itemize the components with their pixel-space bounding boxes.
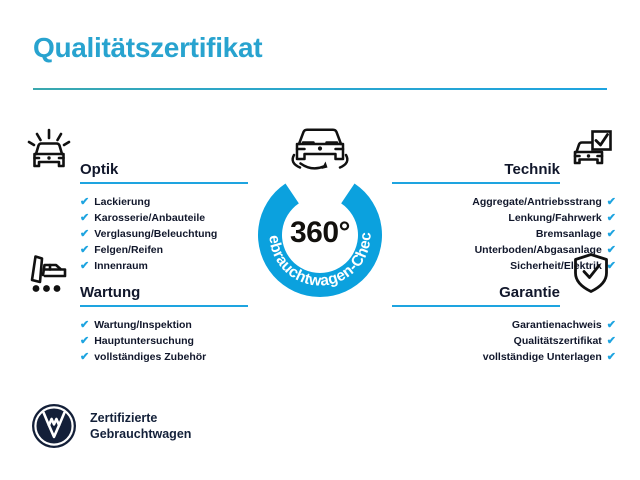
list-item-label: Lackierung: [94, 194, 150, 210]
check-icon: ✔: [80, 261, 89, 272]
check-icon: ✔: [80, 336, 89, 347]
list-item-label: Aggregate/Antriebsstrang: [472, 194, 602, 210]
list-item-label: Bremsanlage: [536, 226, 602, 242]
footer-line-1: Zertifizierte: [90, 410, 191, 426]
section-divider: [80, 182, 248, 184]
list-item-label: Innenraum: [94, 258, 148, 274]
vw-logo-icon: [31, 403, 77, 449]
shield-check-icon: [568, 251, 614, 295]
checklist: ✔Wartung/Inspektion ✔Hauptuntersuchung ✔…: [80, 317, 304, 365]
check-icon: ✔: [607, 320, 616, 331]
section-title: Garantie: [499, 284, 560, 301]
list-item: ✔Hauptuntersuchung: [80, 333, 304, 349]
list-item: Aggregate/Antriebsstrang✔: [392, 194, 616, 210]
car-shine-icon: [26, 128, 72, 172]
check-icon: ✔: [80, 352, 89, 363]
footer-brand: Zertifizierte Gebrauchtwagen: [31, 403, 191, 449]
360-check-badge: Gebrauchtwagen-Check: [249, 113, 391, 313]
list-item: ✔Wartung/Inspektion: [80, 317, 304, 333]
list-item-label: Verglasung/Beleuchtung: [94, 226, 217, 242]
check-icon: ✔: [80, 197, 89, 208]
list-item-label: Wartung/Inspektion: [94, 317, 192, 333]
list-item: Qualitätszertifikat✔: [392, 333, 616, 349]
section-title: Optik: [80, 161, 118, 178]
page-title: Qualitätszertifikat: [33, 32, 262, 64]
section-title: Wartung: [80, 284, 140, 301]
list-item-label: vollständige Unterlagen: [483, 349, 602, 365]
quality-certificate-page: Qualitätszertifikat: [0, 0, 640, 480]
list-item-label: Karosserie/Anbauteile: [94, 210, 205, 226]
footer-text: Zertifizierte Gebrauchtwagen: [90, 410, 191, 442]
check-icon: ✔: [80, 245, 89, 256]
title-divider: [33, 88, 607, 90]
check-icon: ✔: [607, 352, 616, 363]
check-icon: ✔: [607, 197, 616, 208]
car-lift-service-icon: [26, 251, 72, 295]
section-divider: [80, 305, 248, 307]
check-icon: ✔: [80, 213, 89, 224]
section-divider: [392, 305, 560, 307]
check-icon: ✔: [80, 229, 89, 240]
section-header: Garantie: [392, 275, 616, 301]
car-front-rotate-icon: [293, 130, 348, 169]
car-checkbox-icon: [568, 128, 614, 172]
footer-line-2: Gebrauchtwagen: [90, 426, 191, 442]
list-item-label: Lenkung/Fahrwerk: [508, 210, 601, 226]
list-item-label: Garantienachweis: [512, 317, 602, 333]
check-icon: ✔: [80, 320, 89, 331]
check-icon: ✔: [607, 229, 616, 240]
section-divider: [392, 182, 560, 184]
checklist: Garantienachweis✔ Qualitätszertifikat✔ v…: [392, 317, 616, 365]
list-item-label: Qualitätszertifikat: [514, 333, 602, 349]
badge-value: 360°: [249, 216, 391, 250]
list-item: ✔vollständiges Zubehör: [80, 349, 304, 365]
list-item: Garantienachweis✔: [392, 317, 616, 333]
list-item-label: Hauptuntersuchung: [94, 333, 194, 349]
check-icon: ✔: [607, 213, 616, 224]
list-item: vollständige Unterlagen✔: [392, 349, 616, 365]
check-icon: ✔: [607, 336, 616, 347]
list-item-label: Felgen/Reifen: [94, 242, 163, 258]
list-item: Lenkung/Fahrwerk✔: [392, 210, 616, 226]
list-item: Bremsanlage✔: [392, 226, 616, 242]
section-garantie: Garantie Garantienachweis✔ Qualitätszert…: [392, 275, 616, 365]
list-item-label: vollständiges Zubehör: [94, 349, 206, 365]
section-title: Technik: [504, 161, 560, 178]
section-header: Technik: [392, 152, 616, 178]
